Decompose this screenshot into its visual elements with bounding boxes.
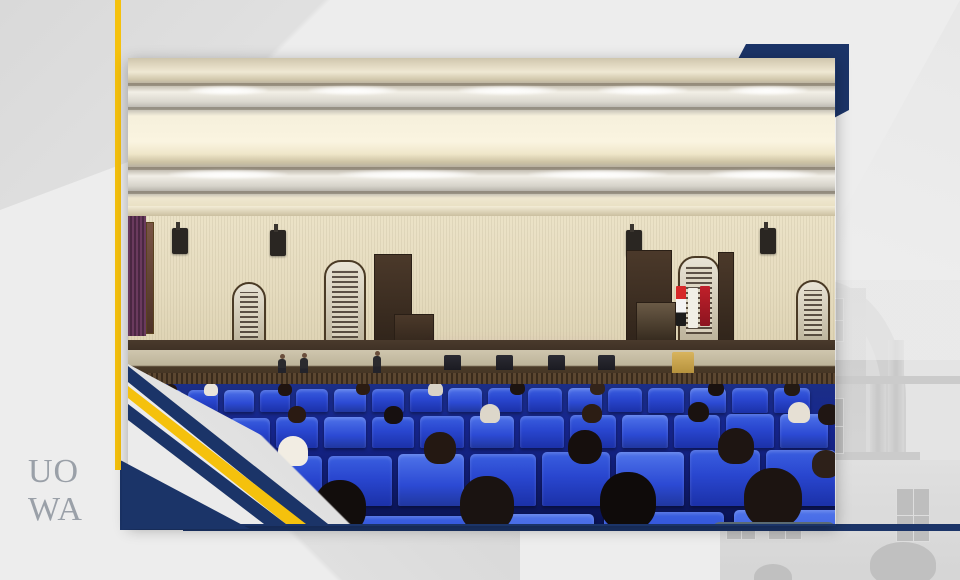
logo-line-2: WA (28, 493, 106, 527)
iraq-flag (676, 286, 686, 326)
photo-ceiling (128, 58, 835, 208)
flag-group (674, 282, 720, 334)
stage-chair (548, 355, 565, 370)
photo-back-wall: جمهورية العراق والتعليم العالي بسم الله … (128, 206, 835, 356)
stage-chair (496, 355, 513, 370)
wall-speaker (760, 228, 776, 254)
wall-ornament (232, 282, 266, 346)
white-banner (688, 288, 698, 328)
stage-chair (444, 355, 461, 370)
auditorium-photo: جمهورية العراق والتعليم العالي بسم الله … (128, 58, 835, 524)
logo-line-1: UO (28, 455, 106, 489)
stage-chair (598, 355, 615, 370)
uowa-logo: UO WA (28, 455, 106, 529)
wall-speaker (270, 230, 286, 256)
poster-canvas: جمهورية العراق والتعليم العالي بسم الله … (0, 0, 960, 580)
wall-ornament (324, 260, 366, 346)
yellow-vertical-rule (115, 0, 121, 470)
wall-ornament (796, 280, 830, 344)
navy-triangle-front (122, 461, 250, 529)
wall-speaker (172, 228, 188, 254)
red-flag (700, 286, 710, 326)
